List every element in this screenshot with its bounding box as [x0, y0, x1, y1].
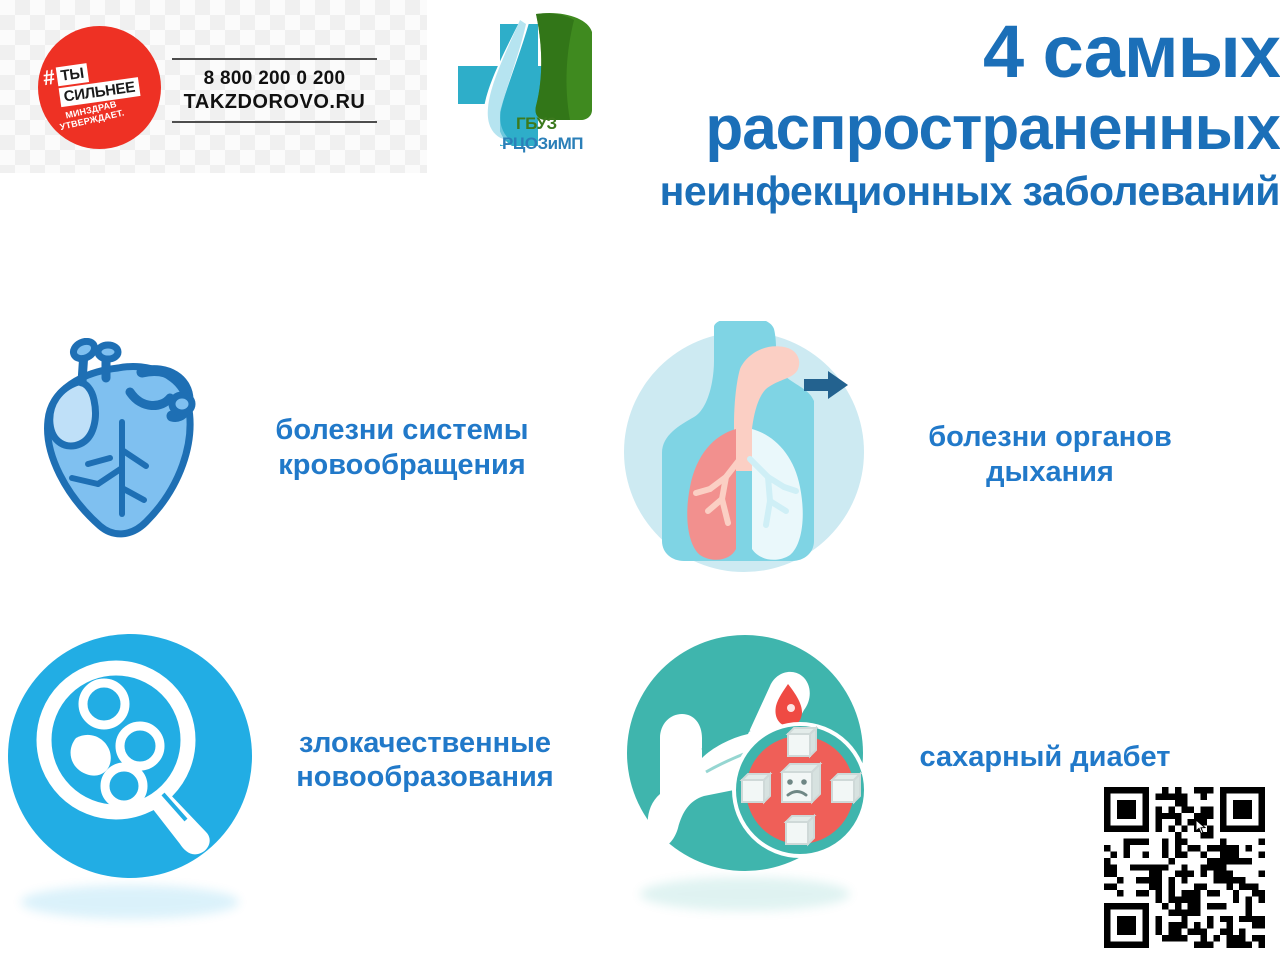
label-line-2: кровообращения: [252, 448, 552, 482]
disease-label-diabetes: сахарный диабет: [895, 740, 1195, 774]
contact-divider-bottom: [172, 121, 377, 123]
label-line-1: болезни органов: [900, 420, 1200, 454]
disease-label-oncology: злокачественные новообразования: [280, 726, 570, 794]
disease-label-respiratory: болезни органов дыхания: [900, 420, 1200, 488]
disease-card-cvd: болезни системы кровообращения: [22, 340, 582, 555]
icon-reflection: [21, 885, 239, 919]
title-line-1: 4 самых: [470, 16, 1280, 89]
label-line-1: злокачественные: [280, 726, 570, 760]
label-line-2: дыхания: [900, 455, 1200, 489]
lungs-icon: [618, 321, 870, 588]
ty-silnee-tag: # ТЫ СИЛЬНЕЕ: [42, 52, 161, 109]
title-line-2: распространенных: [470, 99, 1280, 160]
disease-label-cvd: болезни системы кровообращения: [252, 413, 552, 481]
minzdrav-badge: # ТЫ СИЛЬНЕЕ МИНЗДРАВ УТВЕРЖДАЕТ. 8 800 …: [0, 0, 427, 173]
disease-card-respiratory: болезни органов дыхания: [618, 322, 1218, 587]
icon-reflection: [640, 877, 850, 911]
magnifier-cells-icon: [0, 628, 260, 893]
website-url: TAKZDOROVO.RU: [172, 91, 377, 114]
disease-card-oncology: злокачественные новообразования: [0, 625, 570, 895]
contact-block: 8 800 200 0 200 TAKZDOROVO.RU: [172, 58, 377, 123]
label-line-2: новообразования: [280, 760, 570, 794]
qr-code-image[interactable]: [1104, 787, 1265, 948]
hotline-phone: 8 800 200 0 200: [172, 68, 377, 90]
hash-icon: #: [42, 67, 56, 89]
finger-prick-sugar-icon: [620, 630, 870, 885]
label-line-1: сахарный диабет: [895, 740, 1195, 774]
label-line-1: болезни системы: [252, 413, 552, 447]
page-title: 4 самых распространенных неинфекционных …: [470, 16, 1280, 211]
title-line-3: неинфекционных заболеваний: [470, 171, 1280, 211]
ty-silnee-logo: # ТЫ СИЛЬНЕЕ МИНЗДРАВ УТВЕРЖДАЕТ.: [38, 26, 161, 149]
contact-divider-top: [172, 58, 377, 60]
qr-code[interactable]: [1104, 787, 1265, 948]
heart-icon: [22, 338, 222, 558]
ty-word: ТЫ: [55, 63, 89, 86]
